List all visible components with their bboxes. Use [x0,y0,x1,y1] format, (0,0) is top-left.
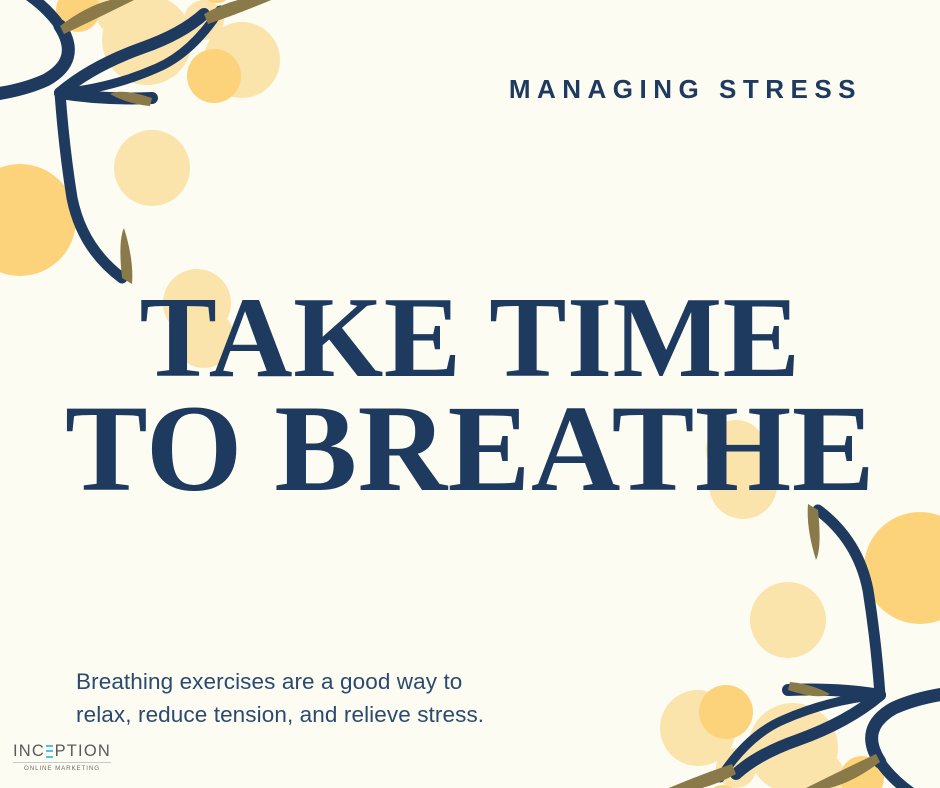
logo-wordmark: INC PTION [13,742,111,760]
branch-stems [0,0,220,278]
body-copy: Breathing exercises are a good way to re… [76,665,546,731]
kicker-text: MANAGING STRESS [262,74,862,105]
branch-leaf-tips [0,0,276,284]
body-copy-line-2: relax, reduce tension, and relieve stres… [76,698,546,731]
page-title: TAKE TIME TO BREATHE [0,283,940,507]
headline-line-2: TO BREATHE [0,389,940,508]
headline-line-1: TAKE TIME [0,283,940,394]
logo-tagline: ONLINE MARKETING [13,765,111,772]
branch-leaf-tips [664,504,940,788]
poster-canvas: MANAGING STRESS TAKE TIME TO BREATHE Bre… [0,0,940,788]
body-copy-line-1: Breathing exercises are a good way to [76,665,546,698]
decorative-branch-top-left [0,0,322,298]
blossom-circles-deep [0,0,241,276]
blossom-circles-deep [699,512,940,788]
decorative-branch-bottom-right [618,490,940,788]
logo[interactable]: INC PTION ONLINE MARKETING [13,742,111,772]
logo-word-before-e: INC [13,743,45,760]
branch-stems [720,510,940,788]
logo-word-after-e: PTION [55,743,111,760]
logo-accent-e-icon [46,745,53,758]
logo-divider [13,762,111,763]
